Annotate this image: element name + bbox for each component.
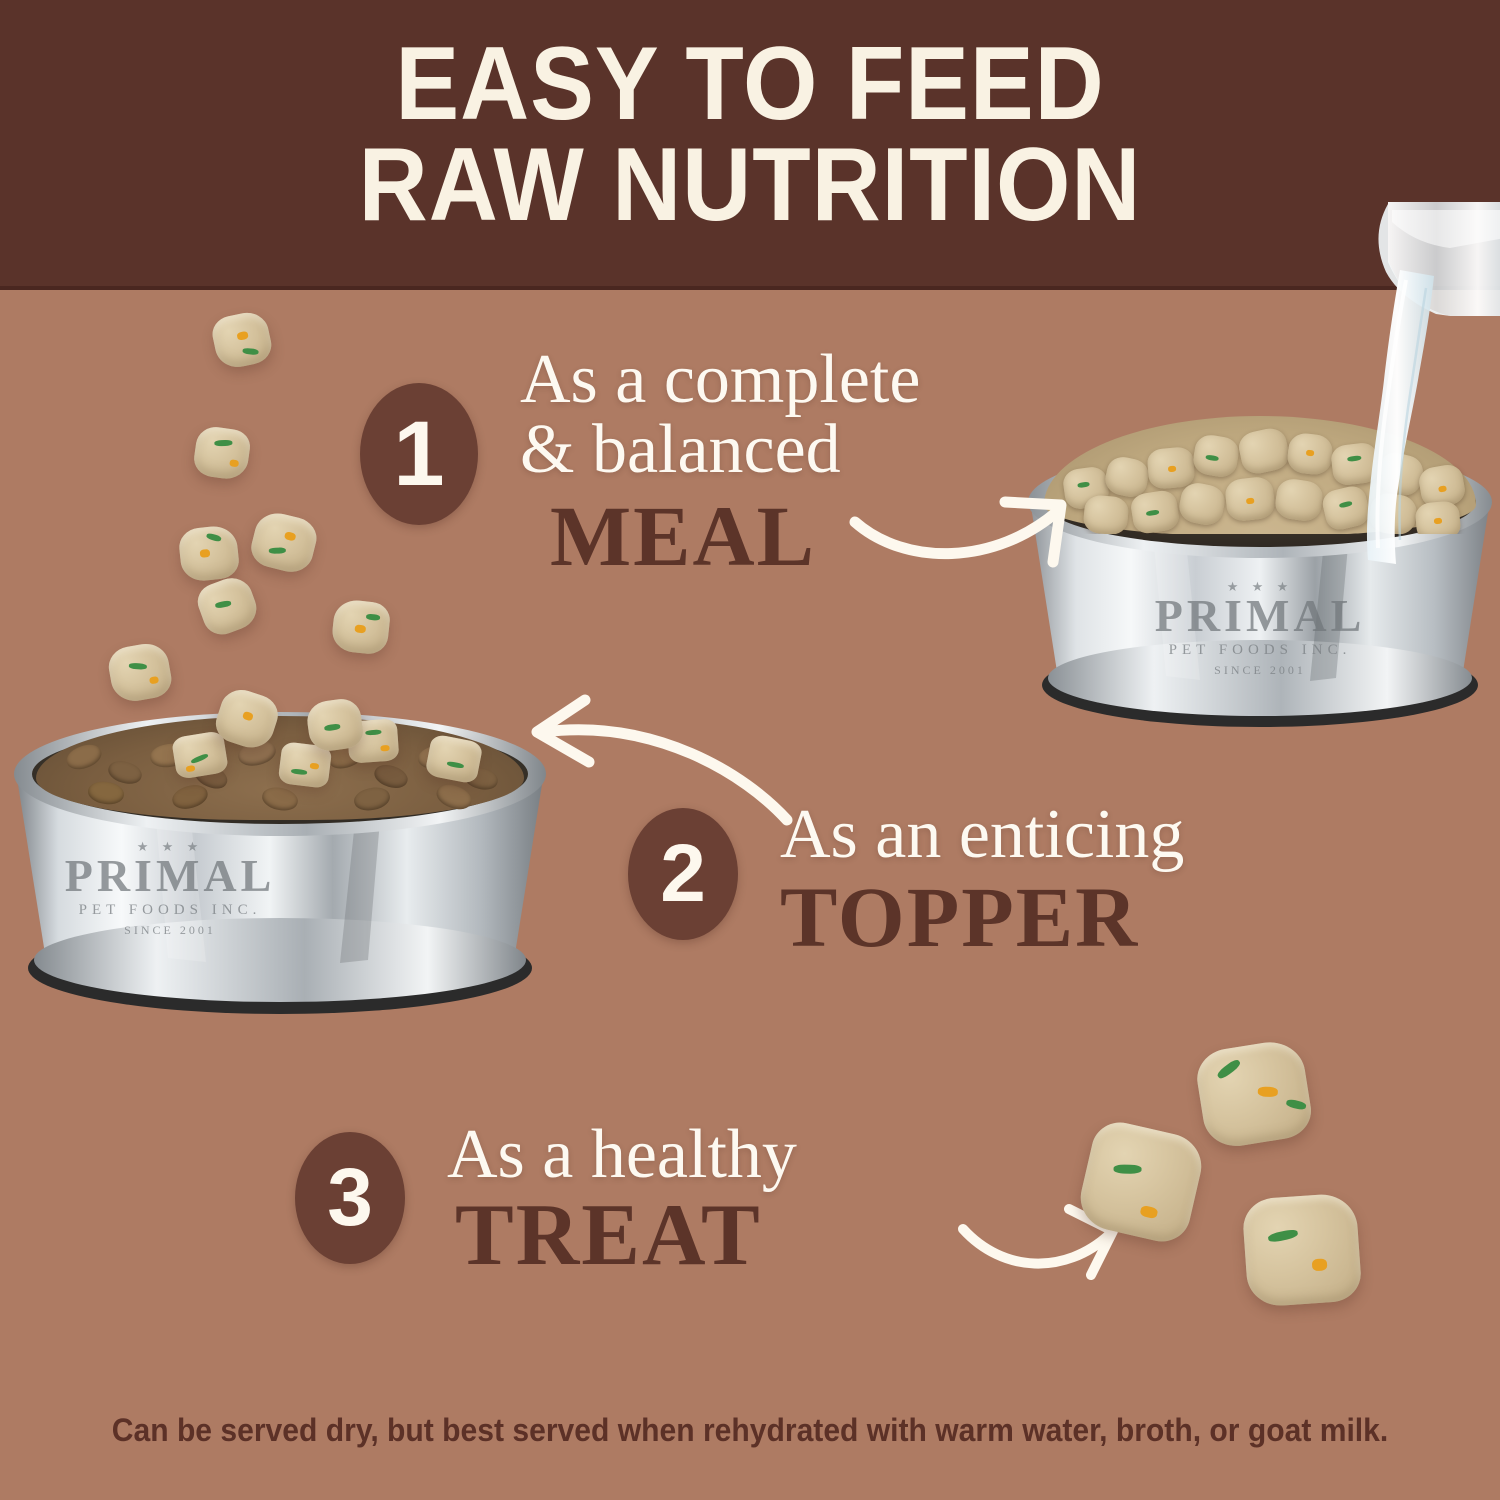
food-nugget	[209, 309, 275, 372]
food-nugget	[1193, 1037, 1315, 1151]
food-nugget	[177, 524, 240, 583]
food-nugget	[106, 640, 175, 705]
step-2-emphasis: TOPPER	[780, 874, 1184, 960]
step-2-line-1: As an enticing	[780, 800, 1184, 870]
page-title-line-1: EASY TO FEED	[60, 34, 1440, 135]
bowl-right-food	[1044, 406, 1476, 534]
step-3-line-1: As a healthy	[447, 1120, 797, 1190]
food-nugget	[1241, 1192, 1362, 1308]
bowl-left: ★ ★ ★ PRIMAL PET FOODS INC. SINCE 2001	[0, 700, 580, 1050]
step-3-emphasis: TREAT	[455, 1192, 797, 1280]
infographic-canvas: ★ ★ ★ PRIMAL PET FOODS INC. SINCE 2001	[0, 0, 1500, 1500]
step-3-badge: 3	[295, 1132, 405, 1264]
food-nugget	[247, 508, 320, 576]
page-title: EASY TO FEED RAW NUTRITION	[60, 34, 1440, 236]
step-1-text: As a complete & balanced MEAL	[520, 345, 920, 579]
page-title-line-2: RAW NUTRITION	[60, 135, 1440, 236]
step-1-line-1: As a complete	[520, 345, 920, 415]
food-nugget	[193, 572, 262, 640]
food-nugget	[192, 424, 252, 481]
step-3-text: As a healthy TREAT	[447, 1120, 797, 1280]
footer-note: Can be served dry, but best served when …	[45, 1412, 1455, 1449]
step-2-text: As an enticing TOPPER	[780, 800, 1184, 960]
bowl-right: ★ ★ ★ PRIMAL PET FOODS INC. SINCE 2001	[1000, 440, 1500, 760]
step-2-badge: 2	[628, 808, 738, 940]
step-1-badge: 1	[360, 383, 478, 525]
food-nugget	[1074, 1117, 1207, 1247]
step-1-emphasis: MEAL	[550, 493, 920, 579]
bowl-left-food	[36, 716, 524, 822]
step-1-line-2: & balanced	[520, 415, 920, 485]
food-nugget	[330, 598, 391, 656]
